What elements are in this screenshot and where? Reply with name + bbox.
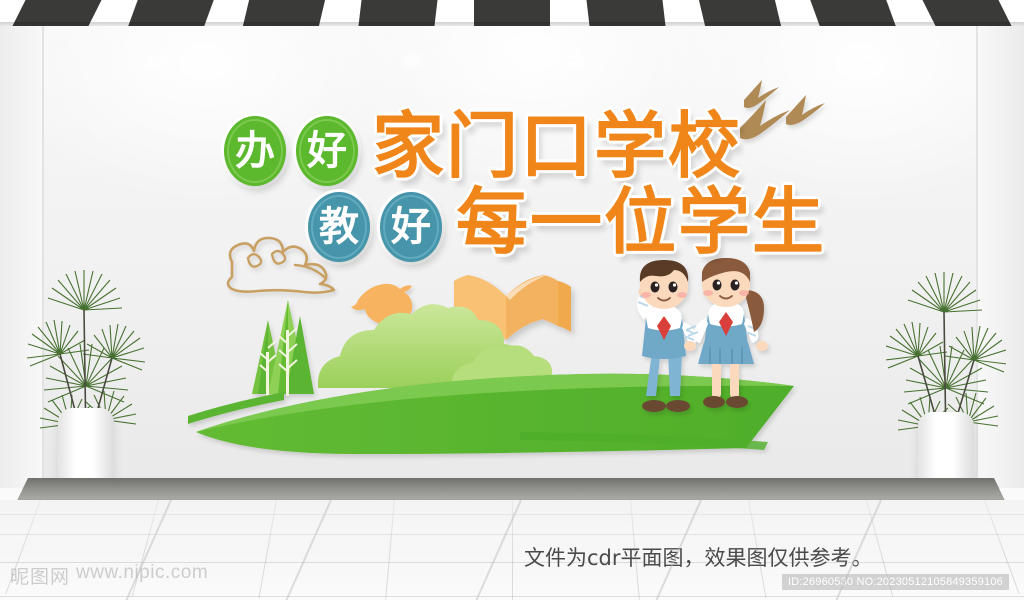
- id-badge: ID:26960530 NO:20230512105849359106: [782, 574, 1009, 590]
- potted-plant-left: [26, 258, 146, 498]
- cloud-icon: [228, 238, 334, 293]
- screenshot-root: 办 好 家门口学校 教 好 每一位学生 文件为cdr平面图，效果图仅供参考。 I…: [0, 0, 1024, 600]
- caption-note: 文件为cdr平面图，效果图仅供参考。: [524, 542, 873, 572]
- watermark-logo: 昵图网: [10, 562, 70, 589]
- pine-trees-icon: [252, 300, 314, 396]
- potted-plant-right: [886, 262, 1006, 502]
- flying-birds-icon: [740, 80, 825, 139]
